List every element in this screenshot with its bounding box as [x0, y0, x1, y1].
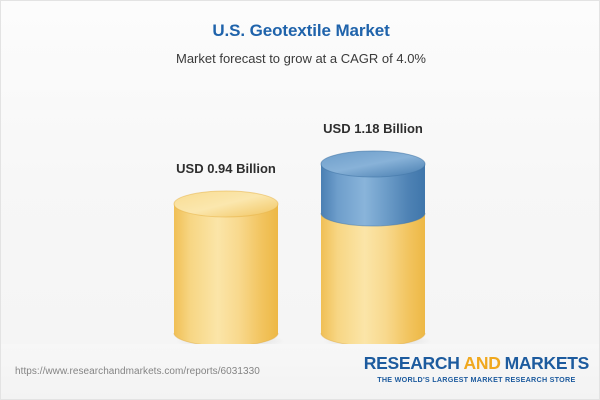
cylinder-2029 [321, 151, 425, 346]
bar-group-2029: USD 1.18 Billion [321, 151, 425, 346]
source-url[interactable]: https://www.researchandmarkets.com/repor… [15, 366, 260, 377]
cylinder-2023 [174, 191, 278, 346]
footer: https://www.researchandmarkets.com/repor… [1, 344, 600, 399]
brand-word-research: RESEARCH [364, 353, 460, 373]
brand-wordmark: RESEARCHANDMARKETS [364, 355, 589, 373]
brand-word-markets: MARKETS [505, 353, 589, 373]
bar-value-label-2029: USD 1.18 Billion [323, 121, 423, 136]
bar-value-label-2023: USD 0.94 Billion [176, 161, 276, 176]
brand-word-and: AND [464, 353, 501, 373]
chart-plot-area: USD 0.94 Billion [1, 1, 600, 346]
research-and-markets-logo[interactable]: RESEARCHANDMARKETS THE WORLD'S LARGEST M… [364, 355, 589, 383]
bar-group-2023: USD 0.94 Billion [174, 191, 278, 346]
chart-image: U.S. Geotextile Market Market forecast t… [0, 0, 600, 400]
brand-tagline: THE WORLD'S LARGEST MARKET RESEARCH STOR… [364, 376, 589, 383]
